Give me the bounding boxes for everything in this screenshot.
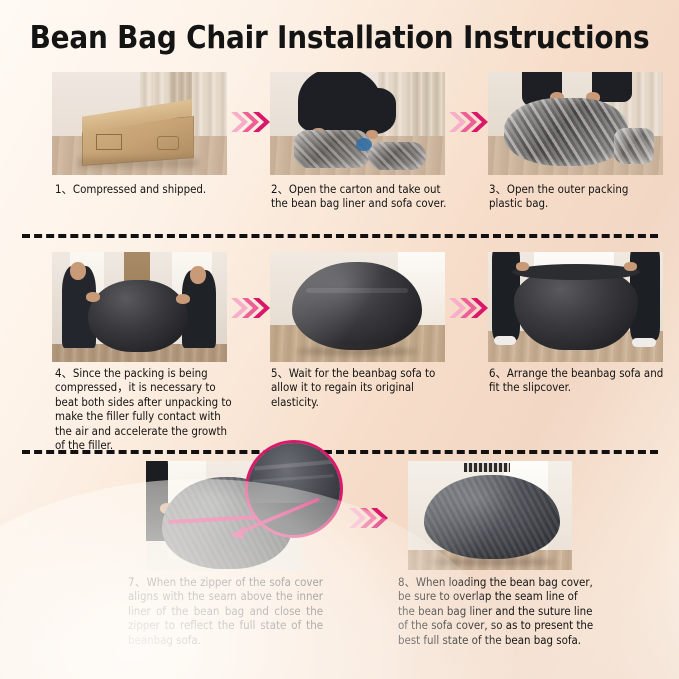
- plastic-film: [614, 128, 654, 164]
- bean-bag-liner: [88, 280, 188, 352]
- step-6-caption: 6、Arrange the beanbag sofa and fit the s…: [489, 366, 665, 395]
- hand: [86, 292, 100, 302]
- wall-decor: [464, 463, 510, 472]
- step-3-caption: 3、Open the outer packing plastic bag.: [489, 182, 665, 211]
- hand: [176, 294, 190, 304]
- person-leg: [344, 88, 396, 134]
- step-6-scene: [488, 252, 663, 362]
- highlight: [424, 475, 560, 559]
- arrow-step-5-to-6: [448, 295, 488, 321]
- compressed-cover-bag: [368, 142, 426, 170]
- outer-plastic-bag: [504, 98, 628, 166]
- step-2-image: [270, 72, 445, 175]
- shoe: [494, 336, 516, 345]
- step-3-scene: [488, 72, 663, 175]
- callout-pointer-arrow: [215, 495, 325, 545]
- face: [70, 262, 86, 280]
- arrow-step-1-to-2: [230, 109, 270, 135]
- plastic-film: [504, 98, 628, 166]
- seam-detail: [252, 474, 334, 483]
- step-8-image: [408, 461, 572, 570]
- shadow: [430, 558, 556, 566]
- arrow-step-2-to-3: [448, 109, 488, 135]
- step-2-scene: [270, 72, 445, 175]
- hand: [516, 262, 529, 271]
- step-2-caption: 2、Open the carton and take out the bean …: [271, 182, 451, 211]
- step-7-caption: 7、When the zipper of the sofa cover alig…: [128, 575, 323, 647]
- step-4-caption: 4、Since the packing is being compressed，…: [55, 366, 240, 452]
- curtain: [412, 72, 445, 136]
- secondary-bag: [614, 128, 654, 164]
- divider-row-2: [22, 450, 658, 454]
- seam: [306, 288, 408, 293]
- shoe: [632, 338, 656, 347]
- seam-detail: [254, 459, 336, 470]
- page-title: Bean Bag Chair Installation Instructions: [0, 20, 679, 56]
- vacuum-valve: [356, 138, 372, 151]
- arrow-step-4-to-5: [230, 295, 270, 321]
- step-4-image: [52, 252, 227, 362]
- step-5-image: [270, 252, 445, 362]
- step-5-scene: [270, 252, 445, 362]
- divider-row-1: [22, 234, 658, 238]
- bean-bag-with-slipcover: [514, 268, 638, 350]
- arrow-step-7-to-8: [348, 505, 388, 531]
- carton-shadow: [78, 158, 198, 168]
- slipcover-edge: [512, 264, 640, 280]
- step-1-scene: [52, 72, 227, 175]
- curtain: [192, 72, 227, 136]
- step-5-caption: 5、Wait for the beanbag sofa to allow it …: [271, 366, 456, 409]
- hand: [624, 262, 637, 271]
- bean-bag-liner: [292, 262, 422, 350]
- carton-label: [96, 134, 122, 150]
- instruction-poster: Bean Bag Chair Installation Instructions: [0, 0, 679, 679]
- carton-stamp: [157, 136, 179, 150]
- step-1-caption: 1、Compressed and shipped.: [55, 182, 235, 196]
- step-8-caption: 8、When loading the bean bag cover, be su…: [398, 575, 596, 647]
- step-4-scene: [52, 252, 227, 362]
- step-6-image: [488, 252, 663, 362]
- step-3-image: [488, 72, 663, 175]
- step-1-image: [52, 72, 227, 175]
- shadow: [296, 347, 418, 356]
- step-8-scene: [408, 461, 572, 570]
- face: [190, 266, 206, 284]
- finished-bean-bag-chair: [424, 475, 560, 559]
- plastic-film: [368, 142, 426, 170]
- highlight: [292, 262, 422, 350]
